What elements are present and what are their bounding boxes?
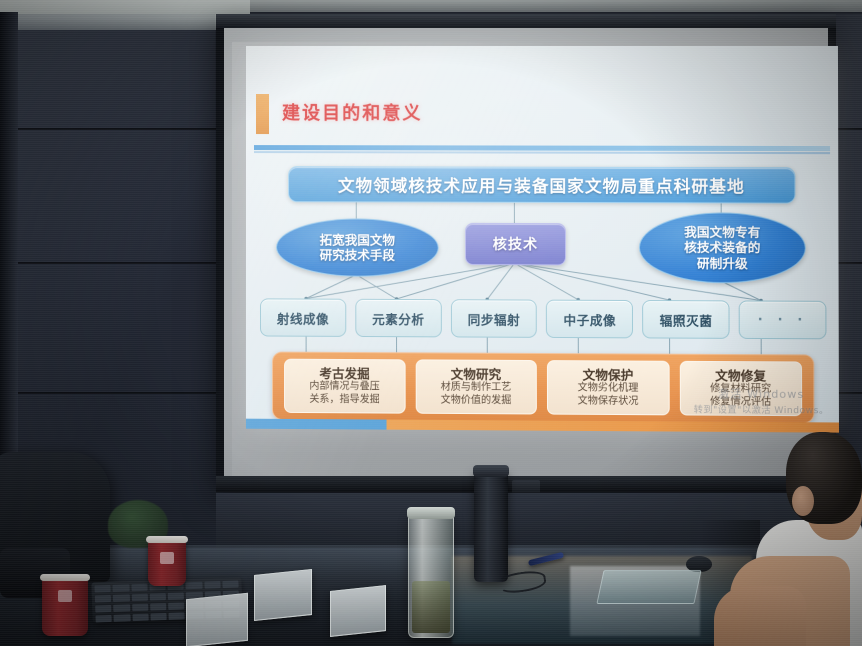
- diagram-node-right: 我国文物专有 核技术装备的 研制升级: [639, 212, 806, 283]
- keyboard-key: [132, 614, 148, 622]
- person-ear: [792, 486, 814, 516]
- keyboard-key: [168, 592, 184, 600]
- screen-bottom-bar: [216, 476, 836, 492]
- keyboard-key: [168, 602, 184, 610]
- thermos-bottle: [474, 470, 508, 582]
- person-forearm: [714, 586, 806, 646]
- application-card: 文物研究 材质与制作工艺 文物价值的发掘: [415, 359, 537, 414]
- technique-chip: 射线成像: [260, 298, 346, 337]
- diagram-node-right-line3: 研制升级: [697, 255, 748, 271]
- title-divider: [254, 145, 830, 151]
- keyboard-key: [222, 580, 238, 588]
- keyboard-key: [95, 615, 111, 623]
- keyboard-key: [114, 614, 130, 622]
- keyboard-key: [132, 604, 148, 612]
- tea-leaves: [412, 581, 450, 633]
- technique-chip-label: 射线成像: [277, 308, 329, 327]
- technique-chip: 辐照灭菌: [642, 300, 729, 339]
- cup-lid: [40, 574, 90, 581]
- technique-chip-label: 元素分析: [372, 308, 424, 327]
- slide-footer-orange: [387, 420, 839, 433]
- keyboard-key: [113, 594, 129, 602]
- keyboard-key: [113, 604, 129, 612]
- technique-chip-label: · · ·: [758, 312, 808, 327]
- diagram-node-left-line2: 研究技术手段: [320, 247, 395, 263]
- cup-logo: [160, 552, 174, 564]
- cup-logo: [58, 590, 72, 602]
- projection-screen: 建设目的和意义: [216, 14, 836, 492]
- keyboard-key: [113, 584, 129, 592]
- application-card-line1: 材质与制作工艺: [441, 382, 512, 395]
- application-card: 文物保护 文物劣化机理 文物保存状况: [547, 360, 669, 415]
- technique-chip-label: 中子成像: [563, 309, 616, 328]
- screen-surface: 建设目的和意义: [224, 28, 828, 476]
- slide-title: 建设目的和意义: [282, 99, 423, 125]
- keyboard-key: [186, 582, 202, 590]
- jar-cap: [407, 507, 455, 519]
- application-card-title: 文物修复: [715, 368, 766, 383]
- diagram-node-left: 拓宽我国文物 研究技术手段: [276, 218, 439, 277]
- keyboard-key: [150, 613, 166, 621]
- application-card-line2: 文物价值的发掘: [441, 395, 512, 408]
- technique-chip-row: 射线成像 元素分析 同步辐射 中子成像 辐照灭菌 · · ·: [260, 298, 826, 339]
- keyboard-key: [150, 603, 166, 611]
- application-card-title: 文物研究: [451, 367, 502, 382]
- diagram-root-label: 文物领域核技术应用与装备国家文物局重点科研基地: [338, 172, 745, 197]
- glass-tea-jar: [408, 512, 454, 638]
- keyboard-key: [131, 584, 147, 592]
- watermark-line-1: 激活 Windows: [694, 385, 829, 402]
- application-card-line2: 关系，指导发掘: [309, 394, 379, 407]
- slide-footer-blue: [246, 419, 387, 430]
- keyboard-key: [95, 605, 111, 613]
- paper-cup: [148, 540, 186, 586]
- screen-top-bar: [216, 14, 836, 28]
- laptop: [596, 570, 701, 604]
- keyboard-key: [150, 593, 166, 601]
- technique-chip-more: · · ·: [739, 300, 827, 339]
- nameplate: [330, 585, 386, 637]
- wall-highlight-left: [0, 14, 215, 474]
- diagram-node-core: 核技术: [465, 223, 566, 266]
- application-card-line2: 文物保存状况: [578, 396, 639, 409]
- watermark-line-2: 转到"设置"以激活 Windows。: [694, 402, 829, 416]
- thermos-cap: [473, 465, 509, 477]
- technique-chip: 同步辐射: [451, 299, 538, 338]
- photo-scene: 建设目的和意义: [0, 0, 862, 646]
- technique-chip-label: 同步辐射: [468, 309, 521, 328]
- application-card-line1: 文物劣化机理: [578, 383, 639, 396]
- diagram-node-right-line1: 我国文物专有: [684, 225, 760, 241]
- technique-chip: 中子成像: [546, 300, 633, 339]
- nameplate: [186, 593, 248, 646]
- keyboard-key: [95, 595, 111, 603]
- cup-lid: [146, 536, 188, 543]
- nameplate: [254, 569, 312, 621]
- keyboard-key: [94, 585, 110, 593]
- diagram-root-node: 文物领域核技术应用与装备国家文物局重点科研基地: [288, 166, 795, 203]
- technique-chip: 元素分析: [355, 299, 441, 338]
- technique-chip-label: 辐照灭菌: [660, 310, 713, 329]
- keyboard-key: [204, 581, 220, 589]
- diagram-node-core-label: 核技术: [493, 234, 538, 254]
- diagram-node-left-line1: 拓宽我国文物: [320, 232, 395, 248]
- paper-cup: [42, 578, 88, 636]
- keyboard-key: [131, 594, 147, 602]
- keyboard-key: [168, 612, 184, 620]
- diagram-node-right-line2: 核技术装备的: [684, 240, 760, 256]
- application-card-title: 考古发掘: [319, 366, 369, 381]
- title-accent-bar: [256, 94, 269, 134]
- windows-activation-watermark: 激活 Windows 转到"设置"以激活 Windows。: [694, 385, 829, 416]
- title-divider-thin: [254, 151, 830, 154]
- presentation-slide: 建设目的和意义: [246, 46, 839, 433]
- application-card-line1: 内部情况与叠压: [309, 381, 379, 394]
- application-card: 考古发掘 内部情况与叠压 关系，指导发掘: [284, 359, 405, 414]
- application-card-title: 文物保护: [583, 368, 634, 383]
